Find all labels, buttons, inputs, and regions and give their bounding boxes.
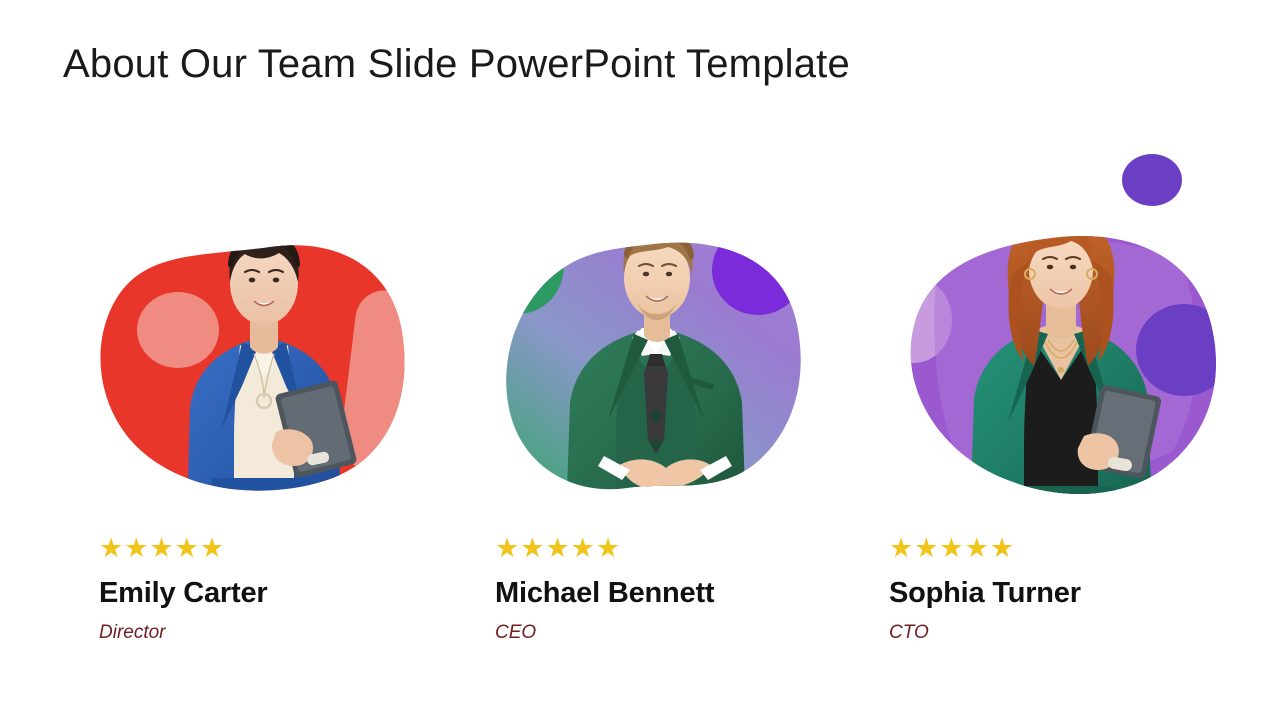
member-name: Emily Carter (99, 577, 267, 610)
page-title: About Our Team Slide PowerPoint Template (63, 40, 850, 88)
team-member-card[interactable]: ★★★★★ Sophia Turner CTO (852, 140, 1252, 680)
team-member-list: ★★★★★ Emily Carter Director (0, 140, 1280, 680)
team-member-card[interactable]: ★★★★★ Michael Bennett CEO (458, 140, 858, 680)
member-role: Director (99, 622, 166, 644)
member-role: CEO (495, 622, 536, 644)
rating-stars: ★★★★★ (495, 535, 621, 562)
team-member-card[interactable]: ★★★★★ Emily Carter Director (62, 140, 462, 680)
member-role: CTO (889, 622, 929, 644)
member-visual (852, 140, 1252, 520)
rating-stars: ★★★★★ (889, 535, 1015, 562)
member-visual (62, 140, 462, 520)
rating-stars: ★★★★★ (99, 535, 225, 562)
decorative-circle-top-right (1122, 154, 1182, 206)
member-visual (458, 140, 858, 520)
slide-canvas: About Our Team Slide PowerPoint Template (0, 0, 1280, 720)
member-name: Sophia Turner (889, 577, 1081, 610)
member-name: Michael Bennett (495, 577, 714, 610)
